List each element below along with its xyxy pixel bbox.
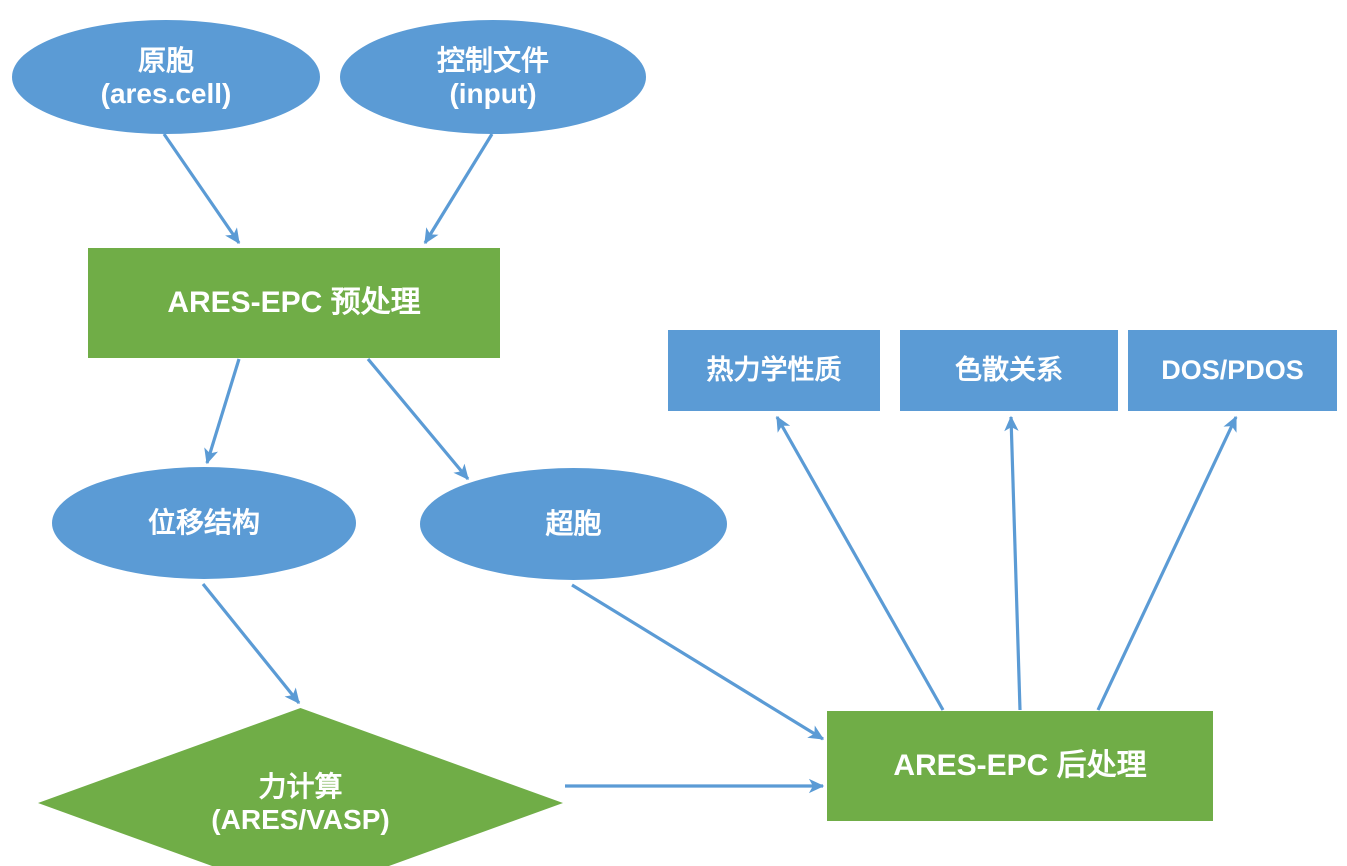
node-control-file-label: 控制文件 (input) (437, 44, 549, 110)
node-supercell[interactable]: 超胞 (420, 468, 727, 580)
node-preprocess-label: ARES-EPC 预处理 (167, 285, 420, 320)
edge-postprocess-to-dos (1098, 417, 1236, 710)
flowchart-canvas: 原胞 (ares.cell) 控制文件 (input) ARES-EPC 预处理… (0, 0, 1347, 866)
node-preprocess[interactable]: ARES-EPC 预处理 (88, 248, 500, 358)
edge-preprocess-to-displaced (207, 359, 239, 463)
node-force-calculation-label: 力计算 (ARES/VASP) (38, 708, 563, 866)
node-force-calculation[interactable]: 力计算 (ARES/VASP) (38, 708, 563, 866)
node-supercell-label: 超胞 (545, 507, 601, 540)
node-dispersion-relation[interactable]: 色散关系 (900, 330, 1118, 411)
edge-preprocess-to-supercell (368, 359, 468, 479)
node-primitive-cell[interactable]: 原胞 (ares.cell) (12, 20, 320, 134)
node-thermodynamic-properties[interactable]: 热力学性质 (668, 330, 880, 411)
node-dos-pdos[interactable]: DOS/PDOS (1128, 330, 1337, 411)
node-postprocess-label: ARES-EPC 后处理 (893, 748, 1146, 783)
node-primitive-cell-label: 原胞 (ares.cell) (101, 44, 232, 110)
node-displaced-structure-label: 位移结构 (148, 506, 260, 539)
node-postprocess[interactable]: ARES-EPC 后处理 (827, 711, 1213, 821)
edge-control-file-to-preprocess (425, 134, 492, 243)
node-displaced-structure[interactable]: 位移结构 (52, 467, 356, 579)
edge-postprocess-to-dispersion (1011, 417, 1020, 710)
edge-postprocess-to-thermo (777, 417, 943, 710)
edge-displaced-to-force-calc (203, 584, 299, 703)
node-thermodynamic-properties-label: 热力学性质 (707, 355, 842, 387)
node-dos-pdos-label: DOS/PDOS (1161, 355, 1304, 387)
edge-primitive-cell-to-preprocess (164, 134, 239, 243)
node-dispersion-relation-label: 色散关系 (955, 355, 1063, 387)
edge-supercell-to-postprocess (572, 585, 823, 739)
node-control-file[interactable]: 控制文件 (input) (340, 20, 646, 134)
